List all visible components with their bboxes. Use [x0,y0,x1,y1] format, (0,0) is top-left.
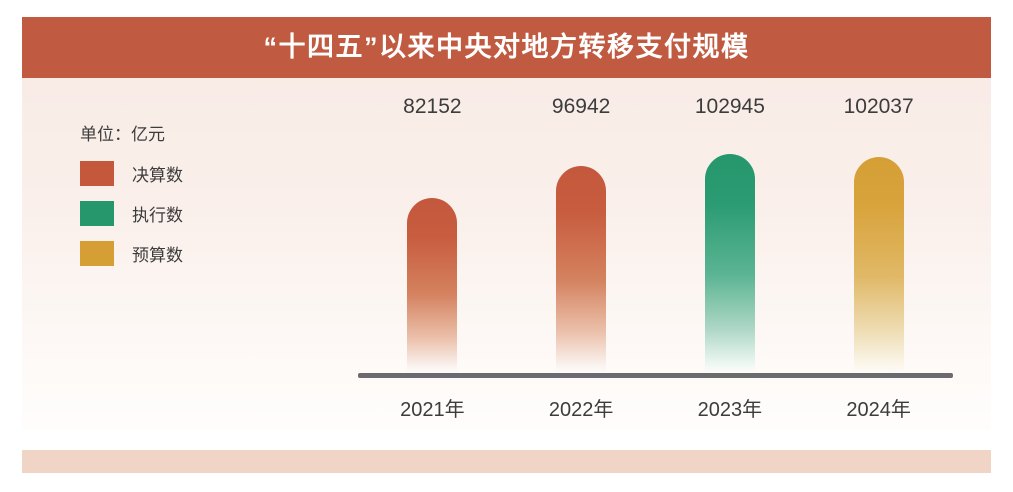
bar-2021[interactable] [407,198,457,373]
legend-swatch-green [80,201,114,226]
bar-value-2022: 96942 [552,95,610,119]
x-axis-labels: 2021年 2022年 2023年 2024年 [358,393,953,422]
chart-legend: 单位：亿元 决算数 执行数 预算数 [80,120,300,281]
bottom-accent-strip [22,450,991,473]
x-tick-2024: 2024年 [804,393,953,422]
bar-2022[interactable] [556,166,606,373]
legend-label-budget: 预算数 [132,241,183,266]
x-axis-line [358,373,953,378]
legend-item-execution[interactable]: 执行数 [80,201,300,226]
bar-column-2021: 82152 [358,128,507,373]
legend-unit-label: 单位：亿元 [80,120,300,145]
legend-item-final-accounts[interactable]: 决算数 [80,161,300,186]
legend-label-execution: 执行数 [132,201,183,226]
x-tick-2023: 2023年 [656,393,805,422]
x-tick-2022: 2022年 [507,393,656,422]
page-title: “十四五”以来中央对地方转移支付规模 [264,34,750,61]
chart-panel: 单位：亿元 决算数 执行数 预算数 82152 9 [22,78,991,430]
plot-area: 82152 96942 102945 102037 20 [336,78,976,430]
title-bar: “十四五”以来中央对地方转移支付规模 [22,17,991,78]
legend-item-budget[interactable]: 预算数 [80,241,300,266]
legend-swatch-yellow [80,241,114,266]
legend-swatch-red [80,161,114,186]
bar-column-2023: 102945 [656,128,805,373]
bar-2023[interactable] [705,154,755,373]
bar-value-2021: 82152 [403,95,461,119]
infographic-card: “十四五”以来中央对地方转移支付规模 单位：亿元 决算数 执行数 预算数 821… [0,0,1013,492]
bar-value-2024: 102037 [844,95,914,119]
bar-2024[interactable] [854,157,904,373]
legend-label-final-accounts: 决算数 [132,161,183,186]
bar-value-2023: 102945 [695,95,765,119]
bar-column-2024: 102037 [804,128,953,373]
bar-column-2022: 96942 [507,128,656,373]
bar-group: 82152 96942 102945 102037 [358,128,953,373]
x-tick-2021: 2021年 [358,393,507,422]
